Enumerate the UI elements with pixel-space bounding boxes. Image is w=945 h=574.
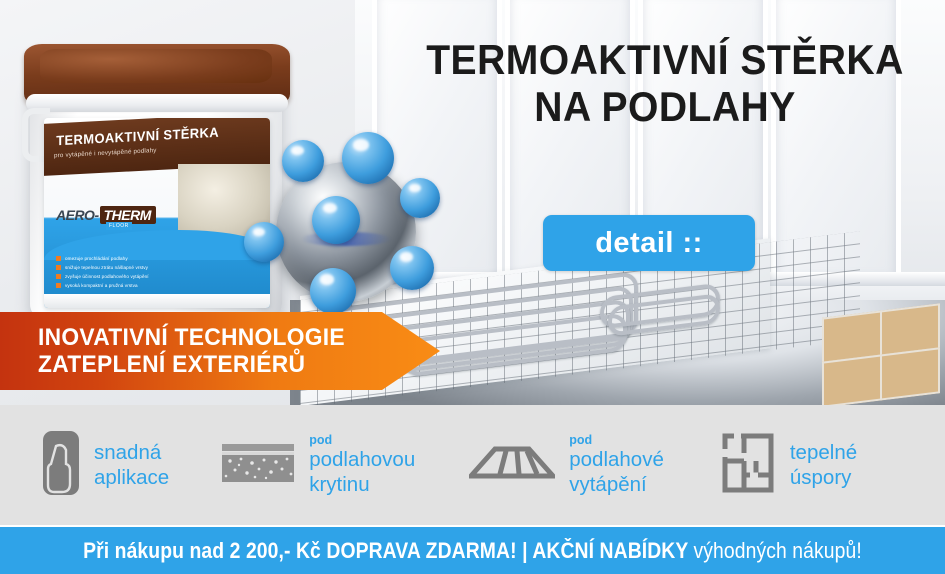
list-item: snižuje tepelnou ztrátu nášlapné vrstvy: [56, 265, 149, 270]
orange-banner: INOVATIVNÍ TECHNOLOGIE ZATEPLENÍ EXTERIÉ…: [0, 312, 440, 390]
feature-strip: snadná aplikace: [0, 405, 945, 525]
screed-layer-icon: [221, 443, 295, 488]
feature-line-1: tepelné: [790, 441, 857, 464]
bucket-lid-top: [40, 49, 272, 83]
promo-bottom-bar[interactable]: Při nákupu nad 2 200,- Kč DOPRAVA ZDARMA…: [0, 527, 945, 574]
feature-small-line: pod: [569, 433, 664, 447]
feature-label: snadná aplikace: [94, 440, 169, 490]
blue-sphere-icon: [390, 246, 434, 290]
feature-item-thermal-savings: tepelné úspory: [720, 431, 857, 500]
bullet-square-icon: [56, 256, 61, 261]
headline-line-1: TERMOAKTIVNÍ STĚRKA: [419, 36, 912, 83]
logo-floor-tag: FLOOR: [106, 222, 132, 230]
feature-item-easy-application: snadná aplikace: [42, 430, 169, 501]
promo-text-bold: Při nákupu nad 2 200,- Kč DOPRAVA ZDARMA…: [83, 538, 693, 563]
promo-bottom-text: Při nákupu nad 2 200,- Kč DOPRAVA ZDARMA…: [83, 538, 862, 564]
bullet-square-icon: [56, 274, 61, 279]
orange-banner-text: INOVATIVNÍ TECHNOLOGIE ZATEPLENÍ EXTERIÉ…: [38, 324, 345, 378]
page-title: TERMOAKTIVNÍ STĚRKA NA PODLAHY: [419, 36, 912, 130]
feature-line-1: podlahovou: [309, 448, 415, 471]
feature-small-line: pod: [309, 433, 415, 447]
feature-line-2: vytápění: [569, 473, 647, 496]
feature-label: tepelné úspory: [790, 440, 857, 490]
blue-sphere-icon: [400, 178, 440, 218]
blue-sphere-icon: [310, 268, 356, 314]
blue-sphere-icon: [282, 140, 324, 182]
blue-sphere-icon: [312, 196, 360, 244]
label-bottom-strip: [44, 294, 270, 308]
feature-line-2: krytinu: [309, 473, 369, 496]
feature-line-1: snadná: [94, 441, 161, 464]
logo-aero-text: AERO-: [56, 207, 99, 223]
list-item: omezuje prochládání podlahy: [56, 256, 149, 261]
feature-item-under-floor-heating: pod podlahové vytápění: [469, 433, 664, 497]
list-item: zvyšuje účinnost podlahového vytápění: [56, 274, 149, 279]
feature-item-under-floor-covering: pod podlahovou krytinu: [221, 433, 415, 497]
hero-photo: TERMOAKTIVNÍ STĚRKA NA PODLAHY detail ::…: [0, 0, 945, 405]
bucket-rim: [26, 94, 288, 112]
floor-tiles: [820, 303, 945, 405]
promo-banner: TERMOAKTIVNÍ STĚRKA NA PODLAHY detail ::…: [0, 0, 945, 574]
molecule-graphic: [250, 140, 435, 330]
floor-plan-icon: [720, 431, 776, 500]
bullet-square-icon: [56, 283, 61, 288]
feature-line-2: úspory: [790, 466, 852, 489]
blue-sphere-icon: [342, 132, 394, 184]
blue-sphere-icon: [244, 222, 284, 262]
product-label: TERMOAKTIVNÍ STĚRKA pro vytápěné i nevyt…: [44, 118, 270, 308]
floor-perspective-icon: [469, 446, 555, 485]
bullet-square-icon: [56, 265, 61, 270]
feature-label: pod podlahové vytápění: [569, 433, 664, 497]
hand-trowel-icon: [42, 430, 80, 501]
orange-line-1: INOVATIVNÍ TECHNOLOGIE: [38, 324, 345, 351]
label-bullet-list: omezuje prochládání podlahy snižuje tepe…: [56, 256, 149, 292]
promo-text-light: výhodných nákupů!: [694, 538, 862, 563]
detail-button[interactable]: detail ::: [543, 215, 755, 271]
feature-label: pod podlahovou krytinu: [309, 433, 415, 497]
headline-line-2: NA PODLAHY: [419, 83, 912, 130]
feature-line-2: aplikace: [94, 466, 169, 489]
orange-line-2: ZATEPLENÍ EXTERIÉRŮ: [38, 351, 345, 378]
list-item: vysoká kompaktní a pružná vrstva: [56, 283, 149, 288]
feature-line-1: podlahové: [569, 448, 664, 471]
